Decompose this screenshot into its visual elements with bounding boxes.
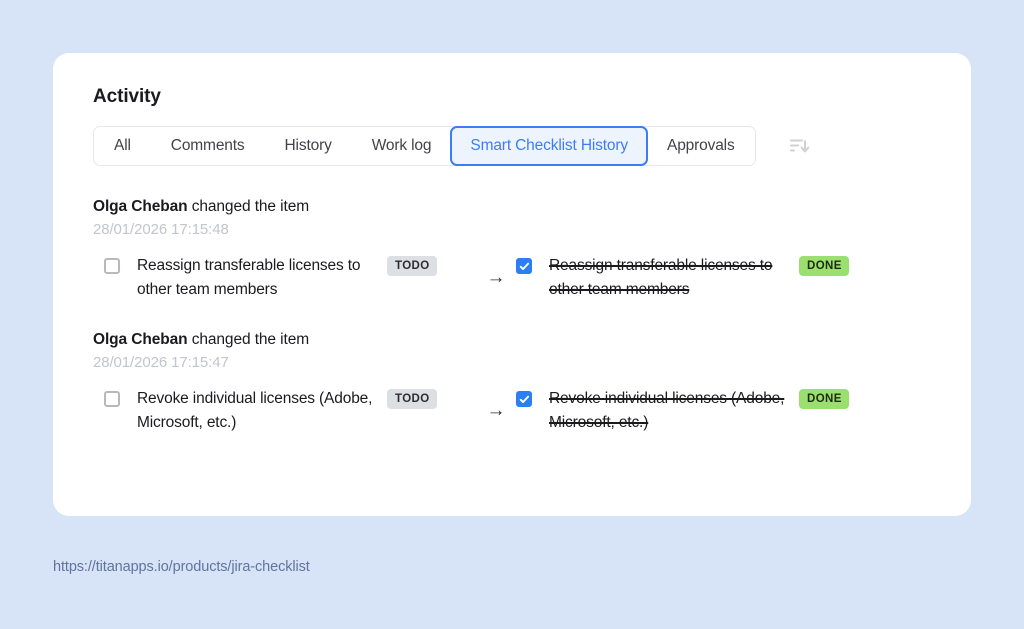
status-badge-before: TODO [387, 389, 437, 409]
sort-descending-button[interactable] [782, 129, 816, 163]
footer-url-link[interactable]: https://titanapps.io/products/jira-check… [53, 559, 310, 575]
page-title: Activity [93, 86, 931, 108]
activity-entry: Olga Cheban changed the item 28/01/2026 … [93, 198, 931, 302]
change-after: Revoke individual licenses (Adobe, Micro… [516, 387, 888, 435]
arrow-right-icon: → [476, 254, 516, 287]
activity-card-inner: Activity All Comments History Work log S… [53, 53, 971, 435]
checkbox-checked-icon[interactable] [516, 391, 532, 407]
entry-timestamp: 28/01/2026 17:15:48 [93, 221, 931, 238]
tab-history[interactable]: History [265, 127, 352, 165]
checklist-item-text-before: Reassign transferable licenses to other … [137, 254, 387, 302]
entry-verb: changed the item [192, 198, 309, 215]
activity-entry: Olga Cheban changed the item 28/01/2026 … [93, 331, 931, 435]
tab-work-log[interactable]: Work log [352, 127, 452, 165]
status-badge-after: DONE [799, 256, 849, 276]
change-before: Reassign transferable licenses to other … [104, 254, 476, 302]
activity-card: Activity All Comments History Work log S… [53, 53, 971, 516]
check-mark-icon [519, 261, 530, 272]
entry-actor: Olga Cheban [93, 198, 188, 215]
checklist-item-text-before: Revoke individual licenses (Adobe, Micro… [137, 387, 387, 435]
entry-header: Olga Cheban changed the item [93, 331, 931, 349]
tab-comments[interactable]: Comments [151, 127, 265, 165]
arrow-right-icon: → [476, 387, 516, 420]
entry-timestamp: 28/01/2026 17:15:47 [93, 354, 931, 371]
entry-header: Olga Cheban changed the item [93, 198, 931, 216]
change-row: Reassign transferable licenses to other … [93, 254, 931, 302]
change-row: Revoke individual licenses (Adobe, Micro… [93, 387, 931, 435]
checklist-item-text-after: Reassign transferable licenses to other … [549, 254, 799, 302]
entry-verb: changed the item [192, 331, 309, 348]
checkbox-unchecked-icon[interactable] [104, 258, 120, 274]
tab-all[interactable]: All [94, 127, 151, 165]
change-after: Reassign transferable licenses to other … [516, 254, 888, 302]
status-badge-after: DONE [799, 389, 849, 409]
page-root: Activity All Comments History Work log S… [0, 0, 1024, 629]
activity-tab-bar: All Comments History Work log Smart Chec… [93, 126, 756, 166]
check-mark-icon [519, 394, 530, 405]
tab-row: All Comments History Work log Smart Chec… [93, 124, 931, 168]
tab-approvals[interactable]: Approvals [647, 127, 755, 165]
checkbox-checked-icon[interactable] [516, 258, 532, 274]
tab-smart-checklist-history[interactable]: Smart Checklist History [450, 126, 648, 166]
checkbox-unchecked-icon[interactable] [104, 391, 120, 407]
status-badge-before: TODO [387, 256, 437, 276]
sort-descending-icon [788, 135, 810, 157]
change-before: Revoke individual licenses (Adobe, Micro… [104, 387, 476, 435]
checklist-item-text-after: Revoke individual licenses (Adobe, Micro… [549, 387, 799, 435]
entry-actor: Olga Cheban [93, 331, 188, 348]
